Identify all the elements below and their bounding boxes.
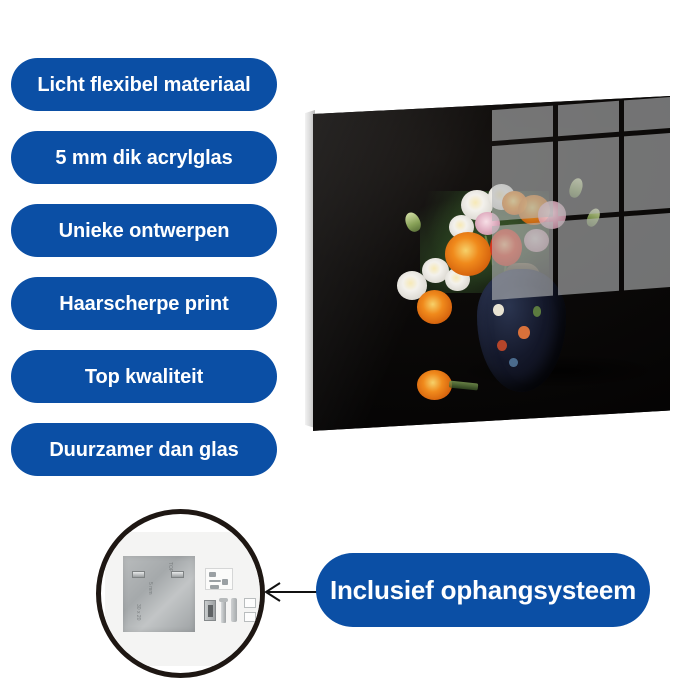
feature-badge-sharp-print[interactable]: Haarscherpe print bbox=[11, 277, 277, 330]
reflection-pane bbox=[557, 137, 618, 216]
feature-badge-light-flexible-material[interactable]: Licht flexibel materiaal bbox=[11, 58, 277, 111]
artwork-vase-motif bbox=[518, 326, 530, 339]
wall-bracket-slot bbox=[208, 605, 213, 617]
instruction-card-mark bbox=[210, 585, 219, 589]
feature-badge-label: Top kwaliteit bbox=[85, 367, 203, 387]
feature-badge-label: Haarscherpe print bbox=[59, 294, 228, 314]
mounting-screw-head bbox=[219, 598, 228, 602]
feature-badge-label: 5 mm dik acrylglas bbox=[55, 148, 232, 168]
hanging-system-callout-circle[interactable]: TOP 5 mm 30 x 20 bbox=[96, 509, 265, 678]
acrylic-panel-front bbox=[313, 96, 670, 436]
mounting-plate: TOP 5 mm 30 x 20 bbox=[123, 556, 195, 632]
window-reflection-overlay bbox=[492, 96, 671, 300]
reflection-pane bbox=[492, 142, 553, 221]
feature-badge-list: Licht flexibel materiaal 5 mm dik acrylg… bbox=[11, 58, 277, 496]
artwork-flower-orange bbox=[417, 290, 453, 324]
feature-badge-label: Duurzamer dan glas bbox=[49, 440, 238, 460]
spacer-washer bbox=[244, 612, 256, 622]
reflection-pane bbox=[492, 105, 553, 141]
artwork-vase-motif bbox=[533, 306, 542, 317]
instruction-card bbox=[205, 568, 233, 590]
mounting-screw bbox=[221, 598, 226, 623]
reflection-pane bbox=[557, 101, 618, 137]
mounting-plate-text-low: 30 x 20 bbox=[135, 604, 141, 620]
artwork-vase-motif bbox=[509, 358, 518, 368]
mounting-plate-clip-left bbox=[132, 571, 145, 578]
instruction-card-mark bbox=[209, 580, 221, 582]
instruction-card-mark bbox=[222, 579, 228, 585]
feature-badge-top-quality[interactable]: Top kwaliteit bbox=[11, 350, 277, 403]
mounting-plate-text-mid: 5 mm bbox=[147, 582, 153, 595]
mounting-hardware-photo: TOP 5 mm 30 x 20 bbox=[105, 532, 265, 666]
artwork-vase-motif bbox=[497, 340, 507, 351]
hanging-system-badge[interactable]: Inclusief ophangsysteem bbox=[316, 553, 650, 627]
reflection-pane bbox=[623, 212, 670, 291]
feature-badge-5mm-acrylic[interactable]: 5 mm dik acrylglas bbox=[11, 131, 277, 184]
instruction-card-mark bbox=[209, 572, 216, 577]
feature-badge-label: Unieke ontwerpen bbox=[59, 221, 230, 241]
reflection-pane bbox=[623, 132, 670, 211]
reflection-pane bbox=[492, 221, 553, 300]
feature-badge-unique-designs[interactable]: Unieke ontwerpen bbox=[11, 204, 277, 257]
spacer-washer bbox=[244, 598, 256, 608]
reflection-pane bbox=[623, 96, 670, 131]
wall-plug bbox=[231, 598, 237, 622]
feature-badge-more-durable-than-glass[interactable]: Duurzamer dan glas bbox=[11, 423, 277, 476]
product-image-acrylic-print[interactable] bbox=[305, 96, 670, 436]
artwork-vase-motif bbox=[493, 304, 504, 316]
hanging-system-badge-label: Inclusief ophangsysteem bbox=[330, 575, 636, 606]
feature-badge-label: Licht flexibel materiaal bbox=[37, 75, 250, 95]
wall-bracket bbox=[204, 600, 216, 621]
reflection-pane-grid bbox=[492, 96, 671, 300]
mounting-plate-text-top: TOP bbox=[167, 562, 173, 572]
reflection-pane bbox=[557, 216, 618, 295]
